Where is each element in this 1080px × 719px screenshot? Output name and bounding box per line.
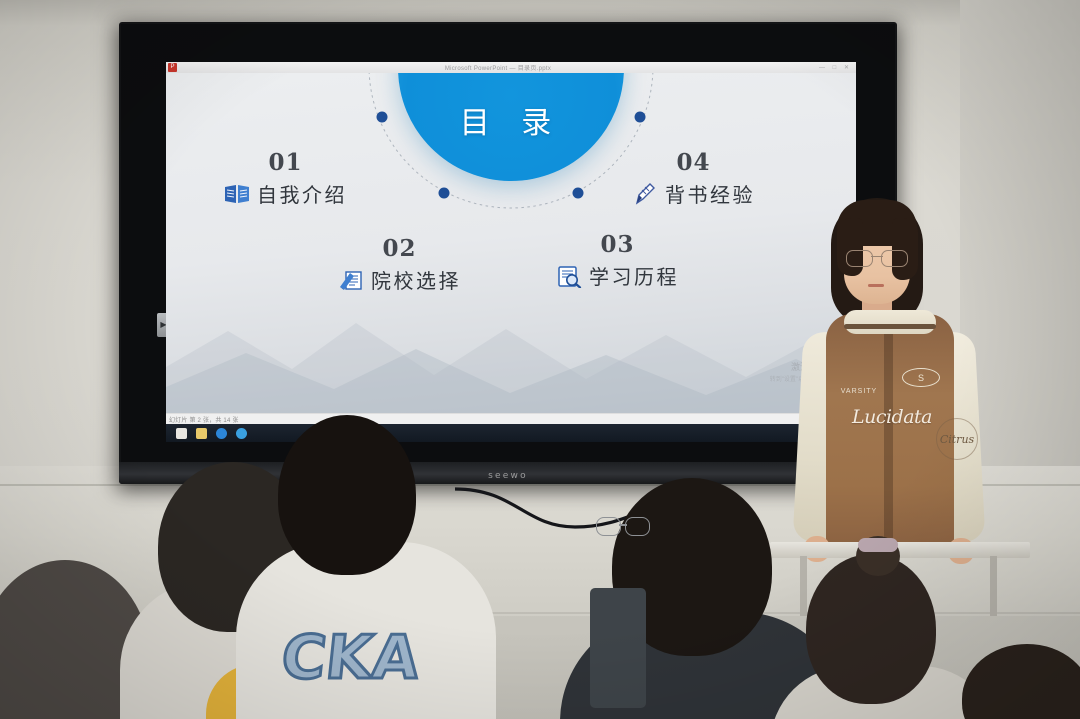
jacket-collar-stripe	[844, 324, 936, 329]
presenter-hair-right	[892, 218, 918, 280]
toc-item-03[interactable]: 03 学习历程	[556, 233, 679, 290]
student-6-head	[962, 644, 1080, 719]
powerpoint-icon: P	[168, 63, 177, 72]
glasses-lens-left	[846, 250, 873, 267]
projected-screen[interactable]: P Microsoft PowerPoint — 目录页.pptx — □ ✕ …	[166, 62, 856, 442]
window-title: Microsoft PowerPoint — 目录页.pptx	[177, 63, 819, 72]
toc-item-02[interactable]: 02 院校选择	[338, 237, 461, 294]
glasses-lens-left	[596, 517, 621, 536]
jacket-collar	[844, 310, 936, 334]
classroom-chair	[590, 588, 646, 708]
pencil-icon	[632, 182, 658, 206]
student-5-head	[806, 554, 936, 704]
toc-label: 院校选择	[371, 265, 461, 294]
document-search-icon	[556, 264, 582, 288]
presenter-hair-left	[837, 218, 863, 276]
toc-label: 背书经验	[665, 179, 755, 208]
student-3-head	[278, 415, 416, 575]
toc-label: 自我介绍	[257, 179, 347, 208]
presenter-glasses	[846, 250, 908, 265]
toc-item-01[interactable]: 01 自我介绍	[224, 151, 347, 208]
classroom-scene: seewo ▶ P Microsoft PowerPoint — 目录页.ppt…	[0, 0, 1080, 719]
toc-label: 学习历程	[589, 261, 679, 290]
toc-number: 04	[632, 151, 755, 174]
toc-number: 03	[556, 233, 679, 256]
student-3-shirt-graphic: CKA	[276, 600, 466, 719]
open-book-icon	[224, 182, 250, 206]
slide-title: 目 录	[398, 98, 624, 142]
window-controls[interactable]: — □ ✕	[819, 64, 852, 71]
jacket-varsity-text: VARSITY	[834, 388, 884, 395]
student-4-glasses	[596, 517, 650, 534]
jacket-script-text: Lucidata	[834, 406, 950, 428]
student-5-hair-tie	[858, 538, 898, 552]
glasses-lens-right	[881, 250, 908, 267]
shirt-text: CKA	[278, 623, 423, 693]
toc-item-04[interactable]: 04 背书经验	[632, 151, 755, 208]
powerpoint-slide[interactable]: 目 录 01 自我介绍	[166, 73, 856, 413]
toc-number: 02	[338, 237, 461, 260]
slide-counter-text: 幻灯片 第 2 张，共 14 张	[169, 415, 239, 424]
toc-number: 01	[224, 151, 347, 174]
glasses-lens-right	[625, 517, 650, 536]
note-pen-icon	[338, 268, 364, 292]
jacket-badge: S	[902, 368, 940, 387]
presenter-mouth	[868, 284, 884, 287]
audience-foreground: CKA	[0, 430, 1080, 719]
mountain-background-graphic	[166, 283, 856, 413]
